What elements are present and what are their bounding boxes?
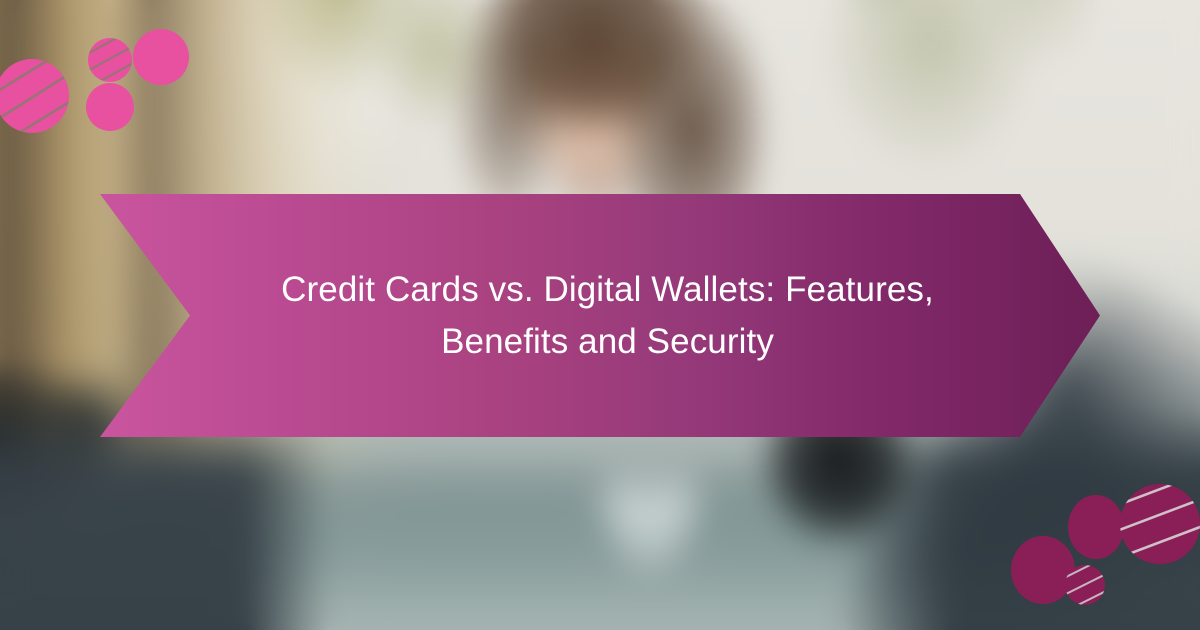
decoration-cluster-top-left: [0, 0, 220, 170]
decoration-cluster-bottom-right: [990, 480, 1200, 630]
decoration-bottom-right-svg: [990, 480, 1200, 630]
circle-plain-medium-icon: [1011, 536, 1075, 604]
decoration-top-left-svg: [0, 0, 220, 170]
hero-card: Credit Cards vs. Digital Wallets: Featur…: [0, 0, 1200, 630]
page-title: Credit Cards vs. Digital Wallets: Featur…: [230, 264, 985, 366]
title-banner: Credit Cards vs. Digital Wallets: Featur…: [100, 194, 1100, 437]
circle-striped-large-icon: [0, 38, 98, 170]
circle-plain-large-icon: [133, 29, 189, 85]
circle-striped-large-icon: [1110, 480, 1200, 584]
circle-plain-medium-icon: [86, 83, 134, 131]
circle-plain-large-icon: [1068, 495, 1124, 559]
